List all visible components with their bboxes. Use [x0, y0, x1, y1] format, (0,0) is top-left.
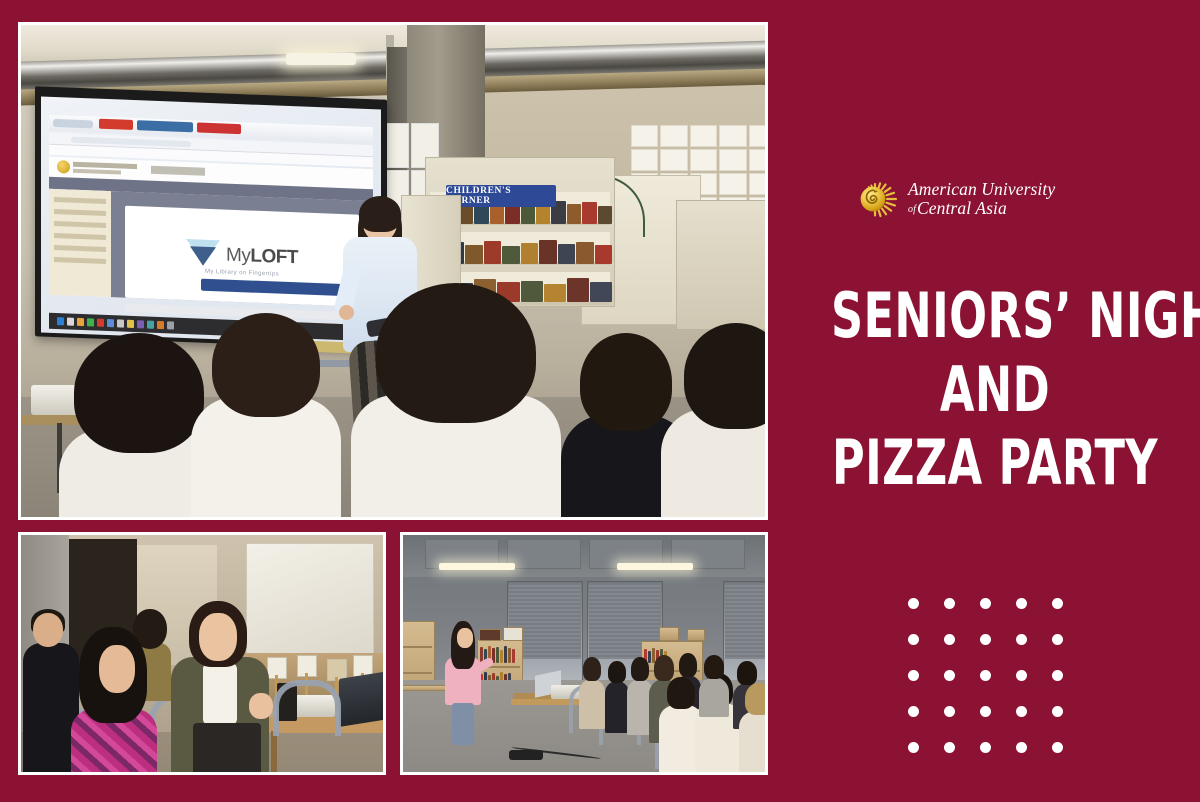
dot — [944, 634, 955, 645]
decor-box-dark — [479, 629, 501, 641]
dot — [980, 670, 991, 681]
fluorescent-light — [617, 563, 693, 570]
dot — [944, 670, 955, 681]
university-name-line1: American University — [908, 180, 1055, 199]
laptop — [339, 671, 383, 727]
decor-box — [687, 629, 705, 641]
photo-bottom-right — [400, 532, 768, 775]
university-brand: American University ofCentral Asia — [852, 176, 1055, 222]
audience-person — [605, 661, 629, 731]
headline-line-3: PIZZA PARTY — [831, 433, 1159, 493]
poster-text-panel: American University ofCentral Asia SENIO… — [790, 0, 1200, 802]
dot — [908, 706, 919, 717]
dot — [908, 742, 919, 753]
dot — [1052, 670, 1063, 681]
presenter-person — [445, 621, 481, 745]
poster-canvas: CHILDREN'S CORNER — [0, 0, 1200, 802]
chair — [273, 680, 341, 736]
photo-main: CHILDREN'S CORNER — [18, 22, 768, 520]
dot-grid-decoration — [908, 598, 1088, 778]
dot — [1052, 706, 1063, 717]
dot — [908, 634, 919, 645]
fluorescent-light — [439, 563, 515, 570]
university-name-line2: ofCentral Asia — [908, 199, 1055, 218]
decor-box — [659, 627, 679, 641]
dot — [1016, 634, 1027, 645]
dot — [1016, 598, 1027, 609]
dot — [1052, 742, 1063, 753]
dot — [908, 670, 919, 681]
dot — [1016, 706, 1027, 717]
page-header-line — [73, 162, 137, 169]
dot — [980, 706, 991, 717]
myloft-wordmark: MyLOFT — [226, 245, 298, 270]
side-table — [403, 685, 447, 691]
table-leg — [271, 731, 277, 772]
myloft-page: MyLOFT My Library on Fingertips — [49, 157, 373, 307]
window-shade — [725, 583, 765, 659]
headline-line-1: SENIORS’ NIGHT — [831, 286, 1159, 346]
dot — [980, 634, 991, 645]
auca-logo-small-icon — [57, 160, 70, 173]
audience-person — [191, 313, 341, 517]
audience-person — [661, 323, 765, 517]
page-header-line — [73, 169, 121, 175]
projection-screen: MyLOFT My Library on Fingertips — [35, 86, 387, 350]
photo-bottom-right-scene — [403, 535, 765, 772]
photo-main-scene: CHILDREN'S CORNER — [21, 25, 765, 517]
dot — [980, 742, 991, 753]
dot — [944, 598, 955, 609]
auca-eagle-sun-emblem-icon — [852, 176, 898, 222]
person-foreground — [73, 627, 153, 772]
dot — [908, 598, 919, 609]
shelving-unit-right — [676, 200, 765, 330]
person-speaking — [171, 601, 269, 772]
audience-person — [351, 283, 561, 517]
browser-tab — [137, 120, 193, 132]
event-headline: SENIORS’ NIGHT AND PIZZA PARTY — [790, 286, 1200, 493]
ceiling-tile — [507, 539, 581, 569]
dot — [1052, 598, 1063, 609]
page-header-title — [151, 166, 205, 176]
dot — [980, 598, 991, 609]
power-adapter — [509, 750, 543, 760]
childrens-corner-sign: CHILDREN'S CORNER — [446, 185, 556, 207]
page-content: MyLOFT My Library on Fingertips — [111, 191, 373, 307]
page-sidebar — [49, 189, 111, 297]
myloft-book-icon — [186, 239, 220, 270]
ceiling-light — [286, 53, 356, 65]
projected-image: MyLOFT My Library on Fingertips — [41, 96, 381, 345]
browser-tab — [197, 122, 241, 134]
audience-person — [579, 657, 605, 727]
photo-bottom-left — [18, 532, 386, 775]
dot — [944, 742, 955, 753]
university-name: American University ofCentral Asia — [908, 180, 1055, 218]
audience-person — [699, 655, 729, 715]
browser-tab — [99, 119, 133, 130]
presenter-hair — [359, 196, 401, 232]
dot — [1016, 670, 1027, 681]
dot — [944, 706, 955, 717]
photo-collage: CHILDREN'S CORNER — [18, 22, 768, 775]
audience-person — [739, 683, 765, 772]
dot — [1016, 742, 1027, 753]
photo-bottom-left-scene — [21, 535, 383, 772]
decor-box-light — [503, 627, 523, 641]
dot — [1052, 634, 1063, 645]
headline-line-2: AND — [831, 360, 1159, 420]
university-name-of: of — [908, 204, 916, 215]
